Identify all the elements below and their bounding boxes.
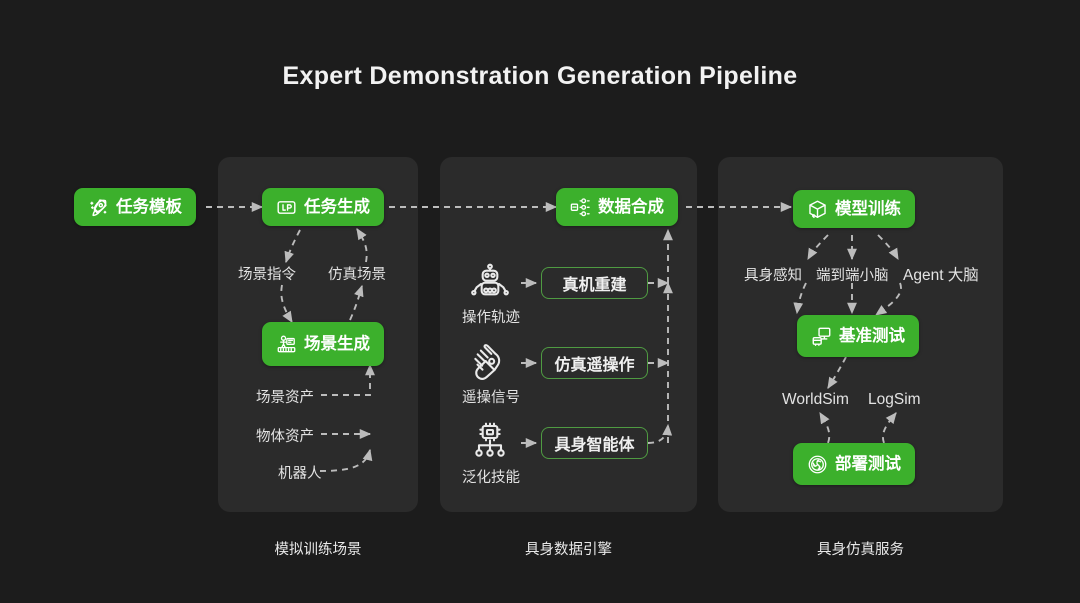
label-generalization-skill: 泛化技能 [462,466,520,487]
glove-icon [470,342,510,382]
label-teleop-signal: 遥操信号 [462,386,520,407]
node-label: 场景生成 [304,336,370,353]
caption-panel-left: 模拟训练场景 [218,538,418,559]
pl-frame-icon [276,197,297,218]
box-sim-teleoperation[interactable]: 仿真遥操作 [541,347,648,379]
label-worldsim: WorldSim [782,391,849,409]
box-embodied-agent[interactable]: 具身智能体 [541,427,648,459]
label-end-to-end-cerebellum: 端到端小脑 [816,264,889,285]
label-logsim: LogSim [868,391,921,409]
node-task-generation[interactable]: 任务生成 [262,188,384,226]
robot-icon [470,262,510,302]
node-label: 任务生成 [304,199,370,216]
chip-node-icon [470,422,510,462]
caption-panel-mid: 具身数据引擎 [440,538,697,559]
pipeline-diagram: Expert Demonstration Generation Pipeline [0,0,1080,603]
node-benchmark-test[interactable]: 基准测试 [797,315,919,357]
node-scene-generation[interactable]: 场景生成 [262,322,384,366]
label-agent-brain: Agent 大脑 [903,263,979,285]
caption-panel-right: 具身仿真服务 [718,538,1003,559]
label-scene-asset: 场景资产 [256,386,314,407]
node-label: 任务模板 [116,199,182,216]
label-sim-scene: 仿真场景 [328,263,386,284]
node-deployment-test[interactable]: 部署测试 [793,443,915,485]
node-task-template[interactable]: 任务模板 [74,188,196,226]
label-scene-instruction: 场景指令 [238,263,296,284]
benchmark-screen-icon [811,326,832,347]
node-label: 基准测试 [839,328,905,345]
rocket-icon [88,197,109,218]
scene-robot-icon [276,334,297,355]
box-real-machine-reconstruction[interactable]: 真机重建 [541,267,648,299]
node-label: 模型训练 [835,201,901,218]
data-sync-icon [570,197,591,218]
node-label: 部署测试 [835,456,901,473]
cube-train-icon [807,199,828,220]
label-robot: 机器人 [278,462,322,483]
node-model-training[interactable]: 模型训练 [793,190,915,228]
deploy-cycle-icon [807,454,828,475]
label-embodied-perception: 具身感知 [744,264,802,285]
label-operation-trajectory: 操作轨迹 [462,306,520,327]
label-object-asset: 物体资产 [256,425,314,446]
page-title: Expert Demonstration Generation Pipeline [0,62,1080,91]
node-data-synthesis[interactable]: 数据合成 [556,188,678,226]
node-label: 数据合成 [598,199,664,216]
